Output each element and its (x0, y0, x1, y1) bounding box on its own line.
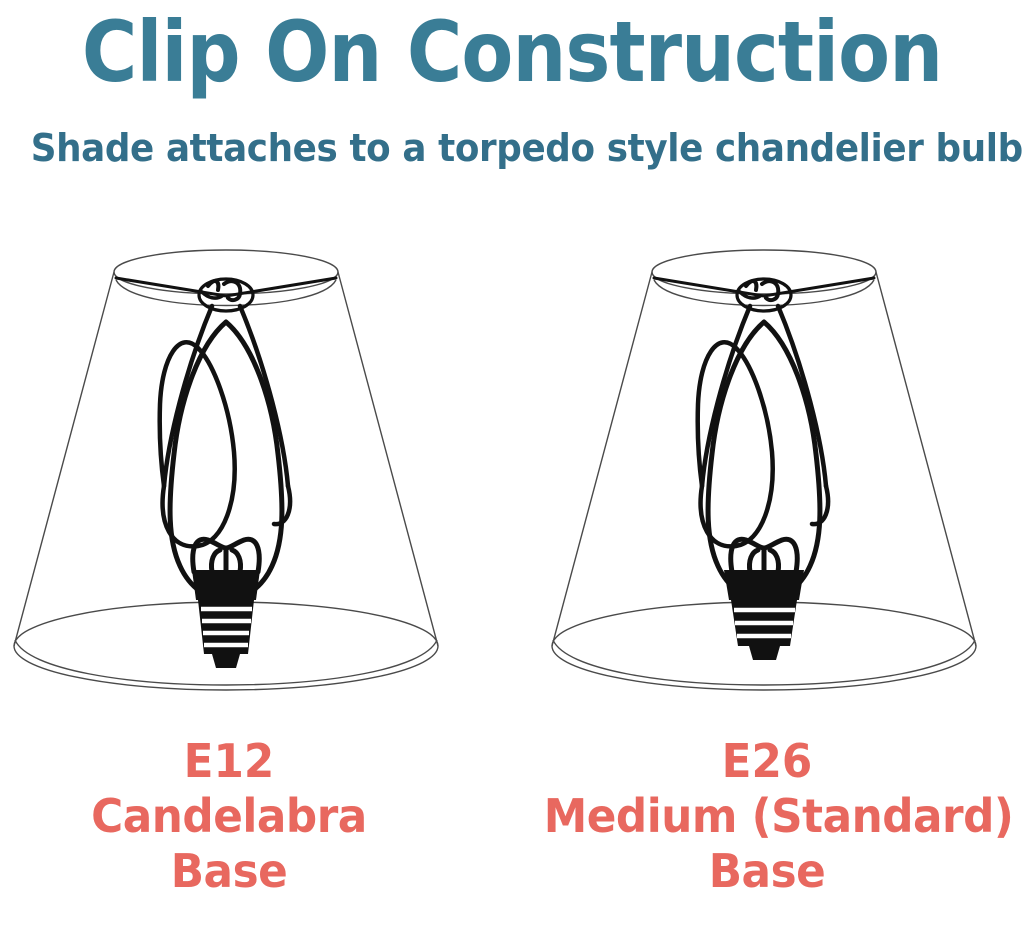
bulb-screw-base-e12 (192, 570, 260, 668)
lamp-shade-diagram-e12 (2, 248, 472, 718)
lamp-shade-diagram-e26 (540, 248, 1010, 718)
caption-e26: E26 Medium (Standard) Base (544, 734, 991, 899)
illustration-stage: Clip On Construction Shade attaches to a… (0, 0, 1024, 933)
page-title: Clip On Construction (51, 4, 973, 100)
caption-e26-name: Medium (Standard) (544, 789, 991, 844)
figure-clip-on-shade-e26 (540, 248, 1010, 718)
caption-e12-code: E12 (6, 734, 453, 789)
caption-e26-code: E26 (544, 734, 991, 789)
caption-e12-name: Candelabra (6, 789, 453, 844)
bulb-screw-base-e26 (724, 570, 804, 660)
caption-e26-suffix: Base (544, 844, 991, 899)
caption-e12: E12 Candelabra Base (6, 734, 453, 899)
caption-e12-suffix: Base (6, 844, 453, 899)
figure-clip-on-shade-e12 (2, 248, 472, 718)
page-subtitle: Shade attaches to a torpedo style chande… (31, 124, 994, 172)
